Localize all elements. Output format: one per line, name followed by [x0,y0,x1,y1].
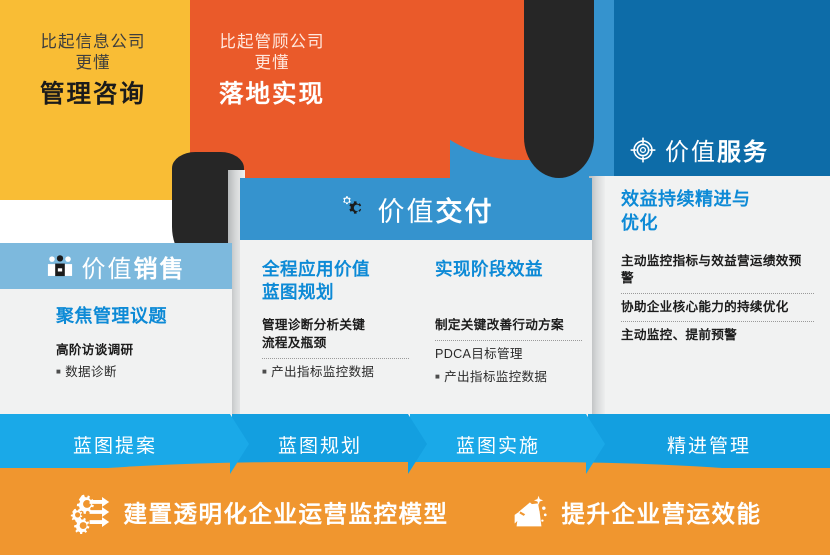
panel-header-delivery: 价值交付 [240,178,592,240]
people-icon [47,253,73,279]
panel-sales[interactable]: 价值销售 聚焦管理议题 高阶访谈调研 数据诊断 [0,243,232,418]
gears-arrows-icon [69,490,113,534]
delivery-column-2: 实现阶段效益 制定关键改善行动方案 PDCA目标管理 产出指标监控数据 [417,258,592,386]
infographic-root: 比起信息公司 更懂 管理咨询 比起管顾公司 更懂 落地实现 价值服务 [0,0,830,555]
stage-label-2: 蓝图规划 [278,431,362,458]
delivery-col1-sub-line2: 流程及瓶颈 [262,335,409,352]
stage-label-1: 蓝图提案 [73,431,157,458]
service-title-light: 价值 [665,139,717,166]
top-col0-line2: 更懂 [8,53,178,74]
bottom-label-1: 建置透明化企业运营监控模型 [124,495,449,529]
connector-blob-right [524,0,594,178]
delivery-col2-mid: PDCA目标管理 [435,340,582,363]
bottom-item-1[interactable]: 建置透明化企业运营监控模型 [69,490,449,534]
sales-title-bold: 销售 [134,256,186,283]
delivery-col2-bullet: 产出指标监控数据 [435,369,582,386]
delivery-column-1: 全程应用价值 蓝图规划 管理诊断分析关键 流程及瓶颈 产出指标监控数据 [240,258,417,386]
delivery-col2-title-line1: 实现阶段效益 [435,258,582,281]
service-col-title-line1: 效益持续精进与 [621,188,814,212]
top-col1-headline: 落地实现 [186,79,358,110]
delivery-title-bold: 交付 [436,197,494,227]
sales-col-bullet: 数据诊断 [56,364,222,381]
bottom-item-2[interactable]: 提升企业营运效能 [507,490,762,534]
delivery-col1-sub-line1: 管理诊断分析关键 [262,317,409,334]
panel-title-service: 价值服务 [665,132,769,167]
service-title-bold: 服务 [717,139,769,166]
panel-title-sales: 价值销售 [82,249,186,284]
sales-column: 聚焦管理议题 高阶访谈调研 数据诊断 [0,305,232,382]
service-column: 效益持续精进与 优化 主动监控指标与效益营运绩效预警 协助企业核心能力的持续优化… [605,188,830,350]
bottom-banner: 建置透明化企业运营监控模型 提升企业营运效能 [0,468,830,555]
panel-header-service: 价值服务 [630,132,769,167]
delivery-col2-sub-line1: 制定关键改善行动方案 [435,317,582,334]
top-band: 比起信息公司 更懂 管理咨询 比起管顾公司 更懂 落地实现 [0,0,830,200]
top-column-consulting: 比起信息公司 更懂 管理咨询 [8,32,178,111]
bottom-label-2: 提升企业营运效能 [562,495,762,529]
service-col-title-line2: 优化 [621,212,814,236]
top-col1-line2: 更懂 [186,53,358,74]
delivery-title-light: 价值 [378,197,436,227]
stage-label-3: 蓝图实施 [456,431,540,458]
service-item: 主动监控、提前预警 [621,321,814,350]
panel-service[interactable]: 效益持续精进与 优化 主动监控指标与效益营运绩效预警 协助企业核心能力的持续优化… [605,176,830,418]
sales-col-sub: 高阶访谈调研 [56,342,222,359]
panel-title-delivery: 价值交付 [378,190,494,229]
panel-delivery[interactable]: 价值交付 全程应用价值 蓝图规划 管理诊断分析关键 流程及瓶颈 产出指标监控数据… [240,178,592,418]
top-col0-headline: 管理咨询 [8,79,178,110]
gear-icon [339,194,369,224]
delivery-col1-title-line2: 蓝图规划 [262,281,409,304]
delivery-col1-bullet: 产出指标监控数据 [262,358,409,381]
stage-label-4: 精进管理 [667,431,751,458]
sales-col-title: 聚焦管理议题 [56,305,222,329]
top-blue-dark-field [614,0,830,200]
target-icon [630,137,656,163]
service-item: 协助企业核心能力的持续优化 [621,293,814,322]
growth-chart-icon [507,490,551,534]
delivery-col1-title-line1: 全程应用价值 [262,258,409,281]
panel-header-sales: 价值销售 [0,243,232,289]
stage-bar: 蓝图提案 蓝图规划 蓝图实施 精进管理 [0,414,830,474]
service-item: 主动监控指标与效益营运绩效预警 [621,248,814,293]
sales-title-light: 价值 [82,256,134,283]
top-column-implementation: 比起管顾公司 更懂 落地实现 [186,32,358,111]
top-col0-line1: 比起信息公司 [8,32,178,53]
top-col1-line1: 比起管顾公司 [186,32,358,53]
